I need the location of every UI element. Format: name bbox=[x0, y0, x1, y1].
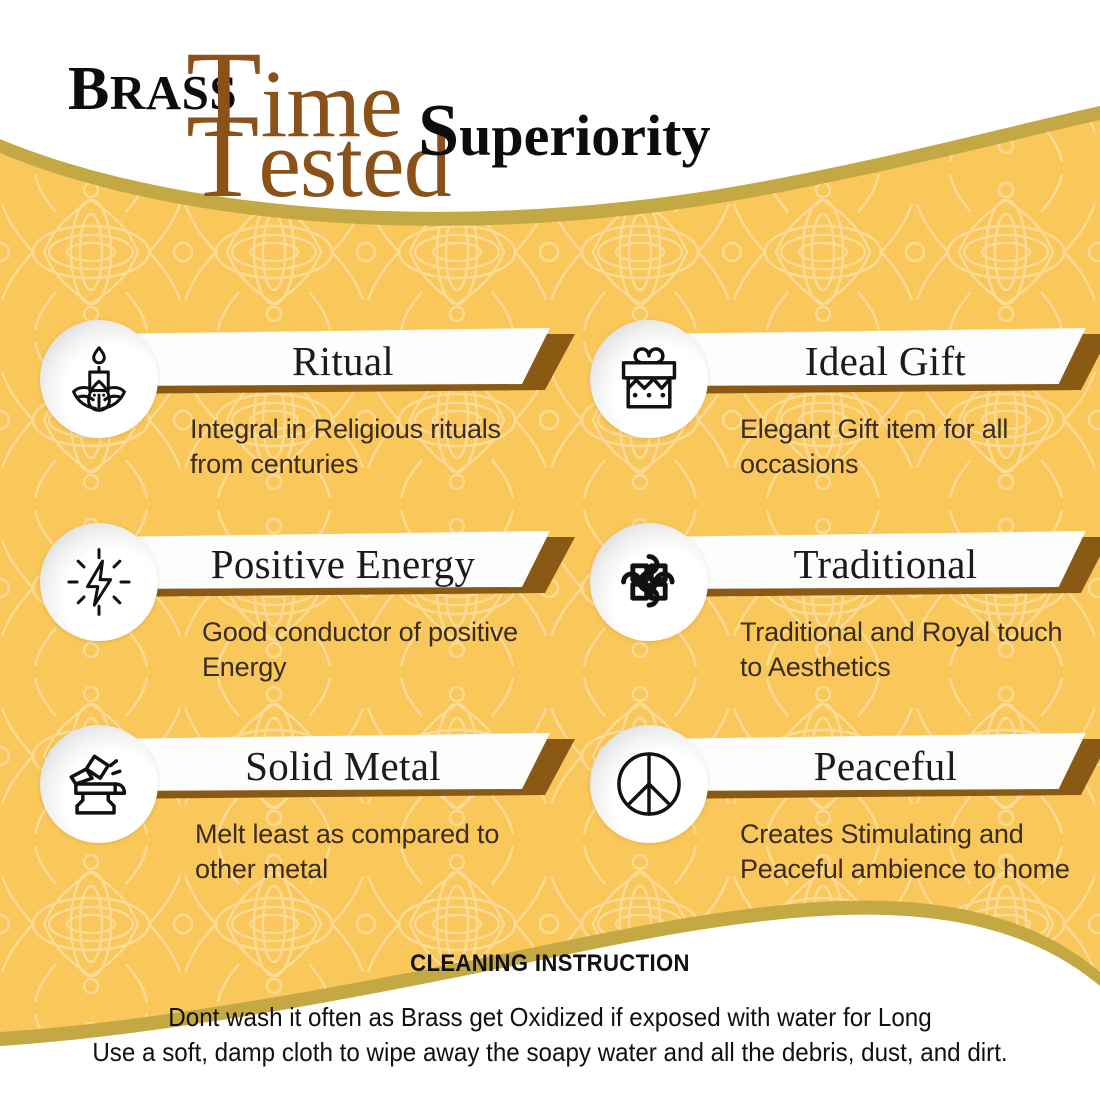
page-title: BRASS Time Tested Superiority bbox=[0, 0, 1100, 175]
feature-card-ritual: Ritual Integral in Religious rituals fro… bbox=[40, 320, 580, 500]
card-title: Traditional bbox=[708, 535, 1063, 593]
card-title: Ideal Gift bbox=[708, 332, 1063, 390]
card-description: Creates Stimulating and Peaceful ambienc… bbox=[740, 817, 1070, 886]
badge-circle bbox=[590, 320, 708, 438]
card-description: Good conductor of positive Energy bbox=[202, 615, 552, 684]
candle-lotus-icon bbox=[62, 342, 136, 416]
endless-knot-icon bbox=[612, 545, 686, 619]
feature-card-ideal-gift: Ideal Gift Elegant Gift item for all occ… bbox=[590, 320, 1090, 500]
cleaning-instruction-line-2: Use a soft, damp cloth to wipe away the … bbox=[39, 1035, 1062, 1070]
card-description: Elegant Gift item for all occasions bbox=[740, 412, 1070, 481]
feature-card-traditional: Traditional Traditional and Royal touch … bbox=[590, 523, 1090, 703]
peace-sign-icon bbox=[612, 747, 686, 821]
feature-card-peaceful: Peaceful Creates Stimulating and Peacefu… bbox=[590, 725, 1090, 935]
gift-box-icon bbox=[612, 342, 686, 416]
hammer-anvil-icon bbox=[62, 747, 136, 821]
badge-circle bbox=[590, 523, 708, 641]
infographic-page: BRASS Time Tested Superiority bbox=[0, 0, 1100, 1100]
feature-card-solid-metal: Solid Metal Melt least as compared to ot… bbox=[40, 725, 580, 915]
badge-circle bbox=[40, 523, 158, 641]
card-description: Integral in Religious rituals from centu… bbox=[190, 412, 540, 481]
card-description: Melt least as compared to other metal bbox=[195, 817, 565, 886]
badge-circle bbox=[590, 725, 708, 843]
footer: CLEANING INSTRUCTION Dont wash it often … bbox=[0, 950, 1100, 1070]
card-description: Traditional and Royal touch to Aesthetic… bbox=[740, 615, 1070, 684]
badge-circle bbox=[40, 725, 158, 843]
card-title: Peaceful bbox=[708, 737, 1063, 795]
feature-card-positive-energy: Positive Energy Good conductor of positi… bbox=[40, 523, 580, 703]
title-word-superiority: Superiority bbox=[418, 94, 710, 168]
cleaning-instruction-heading: CLEANING INSTRUCTION bbox=[44, 950, 1056, 978]
card-title: Ritual bbox=[158, 332, 528, 390]
card-title: Positive Energy bbox=[158, 535, 528, 593]
badge-circle bbox=[40, 320, 158, 438]
title-word-tested: Tested bbox=[186, 96, 451, 216]
cleaning-instruction-line-1: Dont wash it often as Brass get Oxidized… bbox=[39, 1000, 1062, 1035]
card-title: Solid Metal bbox=[158, 737, 528, 795]
lightning-bolt-icon bbox=[62, 545, 136, 619]
